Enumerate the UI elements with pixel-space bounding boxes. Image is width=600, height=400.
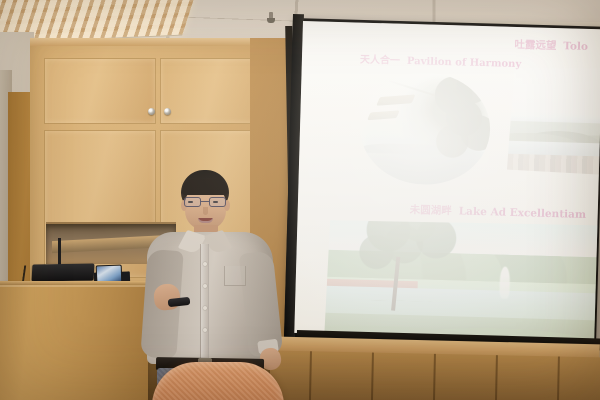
presenter-hand-left	[153, 283, 182, 312]
cabinet-knob-icon[interactable]	[164, 108, 171, 115]
photo-large-tree	[352, 218, 469, 302]
lower-cabinets-shading	[249, 350, 600, 400]
shirt-button	[203, 328, 207, 332]
shirt-button	[203, 306, 207, 310]
cabinet-door-upper-left[interactable]	[44, 58, 156, 124]
slide-photo-tolo-harbour	[507, 65, 600, 176]
photo-tree-silhouette	[433, 75, 492, 169]
slide-caption-pavilion-en: Pavilion of Harmony	[407, 56, 522, 70]
cabinet-knob-icon[interactable]	[148, 108, 155, 115]
shirt-button	[203, 262, 207, 266]
shirt-button	[203, 284, 207, 288]
monitor-stand	[58, 238, 61, 266]
slide-caption-lake-cn: 未圆湖畔	[410, 204, 452, 217]
slide-caption-pavilion-cn: 天人合一	[360, 55, 400, 67]
slide-caption-pavilion: 天人合一Pavilion of Harmony	[360, 51, 522, 70]
glasses-bridge	[201, 201, 209, 202]
presenter-nose	[203, 207, 208, 215]
slide-caption-tolo-en: Tolo	[563, 40, 588, 53]
slide-caption-lake: 未圆湖畔Lake Ad Excellentiam	[410, 202, 587, 222]
projection-screen-surface: 天人合一Pavilion of Harmony 吐露远望Tolo 未圆湖畔Lak…	[294, 21, 600, 341]
pavilion-roof-icon	[376, 94, 415, 105]
presenter-hair-fringe	[182, 179, 228, 195]
glasses-lens-right	[209, 197, 226, 207]
photo-fountain	[499, 267, 510, 299]
shirt-pocket	[224, 266, 246, 286]
lecture-room-photo: 天人合一Pavilion of Harmony 吐露远望Tolo 未圆湖畔Lak…	[0, 0, 600, 400]
slide-photo-lake	[324, 218, 599, 341]
slide-photo-pavilion	[359, 71, 492, 187]
slide-caption-tolo: 吐露远望Tolo	[514, 37, 588, 54]
fire-sprinkler-icon	[268, 12, 274, 23]
podium-monitor	[32, 263, 95, 281]
slide-caption-lake-en: Lake Ad Excellentiam	[459, 205, 587, 221]
glasses-lens-left	[184, 197, 201, 207]
photo-buildings	[507, 153, 600, 176]
pavilion-roof-icon	[367, 110, 400, 120]
slide-caption-tolo-cn: 吐露远望	[514, 39, 556, 52]
